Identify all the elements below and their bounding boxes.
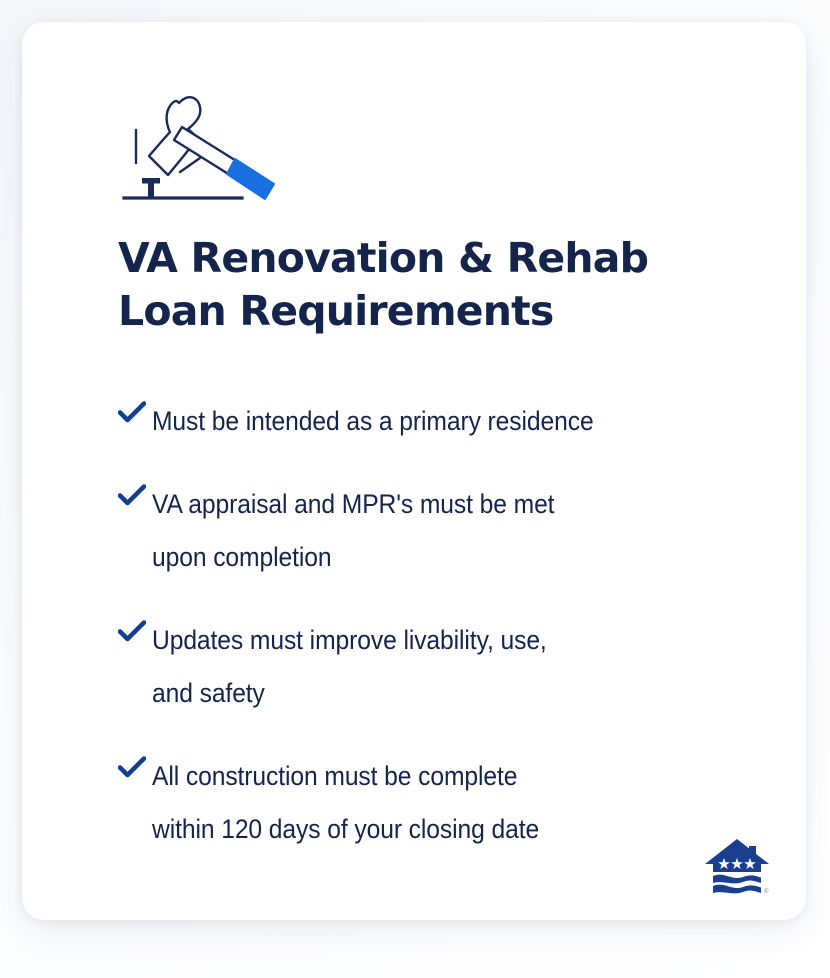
content-card: VA Renovation & Rehab Loan Requirements … [22, 22, 806, 920]
list-item-label: VA appraisal and MPR's must be met upon … [152, 478, 734, 584]
infographic-canvas: VA Renovation & Rehab Loan Requirements … [0, 0, 830, 978]
hammer-icon [118, 80, 298, 210]
check-icon [118, 620, 152, 642]
title-line-2: Loan Requirements [118, 285, 738, 338]
requirements-list: Must be intended as a primary residence … [118, 395, 778, 856]
house-stars-logo: ® [704, 838, 770, 894]
check-icon [118, 756, 152, 778]
page-title: VA Renovation & Rehab Loan Requirements [118, 232, 738, 338]
list-item-label: All construction must be complete within… [152, 750, 734, 856]
list-item: Must be intended as a primary residence [118, 395, 778, 448]
title-line-1: VA Renovation & Rehab [118, 232, 738, 285]
check-icon [118, 401, 152, 423]
list-item: Updates must improve livability, use, an… [118, 614, 778, 720]
list-item: All construction must be complete within… [118, 750, 778, 856]
svg-text:®: ® [764, 888, 769, 894]
list-item: VA appraisal and MPR's must be met upon … [118, 478, 778, 584]
list-item-label: Must be intended as a primary residence [152, 395, 734, 448]
list-item-label: Updates must improve livability, use, an… [152, 614, 734, 720]
check-icon [118, 484, 152, 506]
